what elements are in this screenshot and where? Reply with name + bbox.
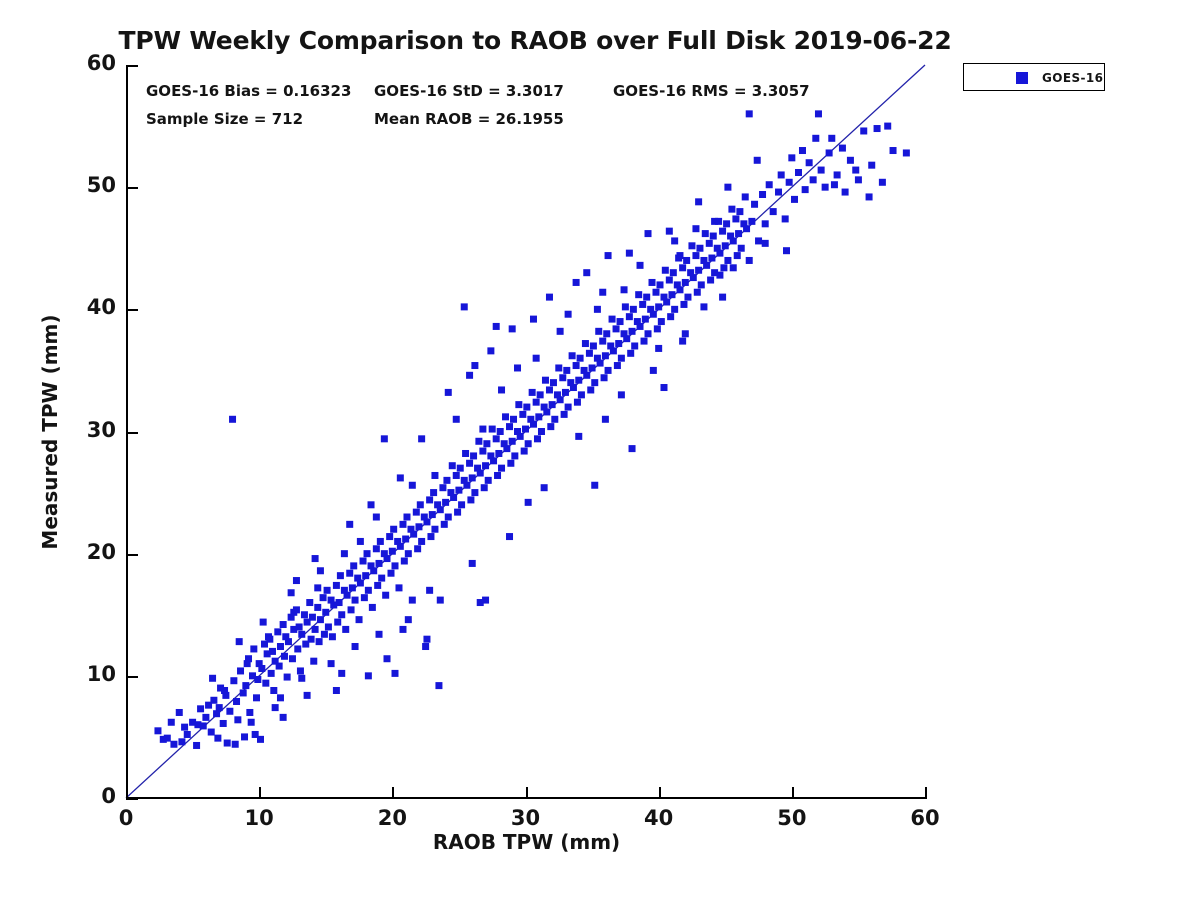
data-point: [417, 501, 424, 508]
data-point: [695, 267, 702, 274]
data-point: [706, 240, 713, 247]
data-point: [561, 411, 568, 418]
data-point: [719, 228, 726, 235]
data-point: [479, 426, 486, 433]
data-point: [281, 653, 288, 660]
data-point: [445, 389, 452, 396]
data-point: [352, 643, 359, 650]
data-point: [720, 264, 727, 271]
data-point: [306, 599, 313, 606]
data-point: [357, 538, 364, 545]
data-point: [653, 289, 660, 296]
data-point: [441, 521, 448, 528]
data-point: [265, 633, 272, 640]
data-point: [442, 499, 449, 506]
data-point: [626, 313, 633, 320]
data-point: [485, 477, 492, 484]
y-tick-label-10: 10: [58, 662, 116, 686]
data-point: [477, 599, 484, 606]
data-point: [274, 628, 281, 635]
data-point: [676, 252, 683, 259]
data-point: [181, 724, 188, 731]
data-point: [475, 438, 482, 445]
data-point: [525, 499, 532, 506]
data-point: [742, 193, 749, 200]
data-point: [852, 167, 859, 174]
x-tick-label-50: 50: [762, 806, 822, 830]
data-point: [879, 179, 886, 186]
data-point: [250, 645, 257, 652]
data-point: [262, 680, 269, 687]
data-point: [543, 408, 550, 415]
data-point: [622, 303, 629, 310]
data-point: [344, 592, 351, 599]
data-point: [766, 181, 773, 188]
data-point: [597, 360, 604, 367]
data-point: [248, 719, 255, 726]
data-point: [401, 557, 408, 564]
data-point: [461, 303, 468, 310]
data-point: [788, 154, 795, 161]
data-point: [537, 391, 544, 398]
data-point: [711, 218, 718, 225]
data-point: [378, 575, 385, 582]
data-point: [684, 294, 691, 301]
data-point: [655, 345, 662, 352]
data-point: [778, 171, 785, 178]
data-point: [487, 347, 494, 354]
data-point: [233, 698, 240, 705]
x-tick-10: [259, 787, 261, 797]
data-point: [368, 501, 375, 508]
data-point: [538, 428, 545, 435]
data-point: [413, 509, 420, 516]
data-point: [370, 567, 377, 574]
data-point: [481, 484, 488, 491]
data-point: [671, 306, 678, 313]
data-point: [403, 514, 410, 521]
data-point: [431, 526, 438, 533]
data-point: [234, 716, 241, 723]
data-point: [547, 423, 554, 430]
data-point: [525, 440, 532, 447]
stat-bias: GOES-16 Bias = 0.16323: [146, 82, 351, 100]
data-point: [232, 741, 239, 748]
data-point: [290, 609, 297, 616]
data-point: [312, 555, 319, 562]
data-point: [423, 518, 430, 525]
data-point: [802, 186, 809, 193]
data-point: [184, 731, 191, 738]
data-point: [482, 462, 489, 469]
y-tick-0: [128, 798, 138, 800]
data-point: [546, 294, 553, 301]
data-point: [389, 548, 396, 555]
data-point: [361, 594, 368, 601]
data-point: [710, 233, 717, 240]
data-point: [373, 514, 380, 521]
data-point: [550, 379, 557, 386]
data-point: [533, 355, 540, 362]
data-point: [603, 330, 610, 337]
data-point: [667, 313, 674, 320]
data-point: [364, 550, 371, 557]
data-point: [391, 562, 398, 569]
data-point: [828, 135, 835, 142]
data-point: [168, 719, 175, 726]
data-point: [453, 472, 460, 479]
data-point: [509, 325, 516, 332]
data-point: [655, 303, 662, 310]
data-point: [405, 550, 412, 557]
data-point: [342, 626, 349, 633]
legend-swatch-goes-16: [1016, 72, 1028, 84]
data-point: [409, 597, 416, 604]
data-point: [236, 638, 243, 645]
data-point: [328, 660, 335, 667]
data-point: [577, 355, 584, 362]
data-point: [590, 342, 597, 349]
data-point: [688, 242, 695, 249]
data-point: [176, 709, 183, 716]
data-point: [618, 391, 625, 398]
data-point: [352, 597, 359, 604]
data-point: [338, 611, 345, 618]
data-point: [743, 225, 750, 232]
stat-std: GOES-16 StD = 3.3017: [374, 82, 564, 100]
data-point: [346, 570, 353, 577]
y-tick-label-20: 20: [58, 540, 116, 564]
data-point: [395, 584, 402, 591]
data-point: [454, 509, 461, 516]
data-point: [839, 145, 846, 152]
data-point: [555, 364, 562, 371]
data-point: [329, 633, 336, 640]
data-point: [642, 316, 649, 323]
data-point: [418, 435, 425, 442]
data-point: [529, 389, 536, 396]
data-point: [799, 147, 806, 154]
data-point: [431, 472, 438, 479]
data-point: [755, 237, 762, 244]
data-point: [430, 489, 437, 496]
data-point: [382, 592, 389, 599]
chart-legend: GOES-16: [963, 63, 1105, 91]
data-point: [682, 279, 689, 286]
data-point: [617, 318, 624, 325]
y-tick-50: [128, 187, 138, 189]
data-point: [645, 230, 652, 237]
data-point: [216, 704, 223, 711]
data-point: [285, 638, 292, 645]
data-point: [679, 264, 686, 271]
x-tick-label-30: 30: [496, 806, 556, 830]
data-point: [666, 228, 673, 235]
data-point: [288, 589, 295, 596]
data-point: [594, 306, 601, 313]
data-point: [533, 399, 540, 406]
data-point: [627, 350, 634, 357]
data-point: [860, 127, 867, 134]
series-goes-16: [154, 110, 909, 749]
data-point: [514, 364, 521, 371]
data-point: [334, 619, 341, 626]
data-point: [680, 301, 687, 308]
data-point: [535, 413, 542, 420]
y-tick-label-30: 30: [58, 418, 116, 442]
data-point: [810, 176, 817, 183]
data-point: [722, 242, 729, 249]
data-point: [280, 714, 287, 721]
data-point: [242, 682, 249, 689]
data-point: [812, 135, 819, 142]
data-point: [583, 372, 590, 379]
data-point: [575, 433, 582, 440]
data-point: [397, 474, 404, 481]
data-point: [795, 169, 802, 176]
data-point: [229, 416, 236, 423]
data-point: [276, 663, 283, 670]
data-point: [317, 567, 324, 574]
x-tick-0: [126, 787, 128, 797]
data-point: [498, 465, 505, 472]
data-point: [884, 123, 891, 130]
data-point: [511, 452, 518, 459]
data-point: [298, 631, 305, 638]
data-point: [402, 536, 409, 543]
data-point: [268, 670, 275, 677]
data-point: [562, 389, 569, 396]
data-point: [583, 269, 590, 276]
data-point: [575, 377, 582, 384]
data-point: [874, 125, 881, 132]
data-point: [631, 342, 638, 349]
x-tick-30: [526, 787, 528, 797]
data-point: [495, 450, 502, 457]
data-point: [696, 245, 703, 252]
data-point: [563, 367, 570, 374]
data-point: [762, 240, 769, 247]
data-point: [410, 531, 417, 538]
data-point: [565, 404, 572, 411]
data-point: [336, 599, 343, 606]
data-point: [716, 250, 723, 257]
data-point: [209, 675, 216, 682]
data-point: [573, 362, 580, 369]
data-point: [429, 511, 436, 518]
data-point: [202, 714, 209, 721]
data-point: [806, 159, 813, 166]
data-point: [384, 555, 391, 562]
data-point: [308, 636, 315, 643]
data-point: [426, 587, 433, 594]
data-point: [692, 252, 699, 259]
data-point: [557, 328, 564, 335]
data-point: [719, 294, 726, 301]
data-point: [507, 460, 514, 467]
data-point: [694, 289, 701, 296]
data-point: [314, 604, 321, 611]
data-point: [469, 560, 476, 567]
data-point: [272, 704, 279, 711]
y-tick-label-60: 60: [58, 51, 116, 75]
data-point: [289, 655, 296, 662]
data-point: [455, 487, 462, 494]
data-point: [477, 470, 484, 477]
data-point: [517, 433, 524, 440]
x-tick-20: [392, 787, 394, 797]
data-point: [834, 171, 841, 178]
data-point: [260, 619, 267, 626]
data-point: [317, 616, 324, 623]
data-point: [549, 401, 556, 408]
stat-rms: GOES-16 RMS = 3.3057: [613, 82, 810, 100]
data-point: [418, 538, 425, 545]
data-point: [623, 335, 630, 342]
data-point: [842, 189, 849, 196]
data-point: [258, 665, 265, 672]
data-point: [463, 482, 470, 489]
data-point: [630, 306, 637, 313]
data-point: [284, 674, 291, 681]
data-point: [226, 708, 233, 715]
data-point: [240, 689, 247, 696]
data-point: [193, 742, 200, 749]
data-point: [815, 110, 822, 117]
data-point: [735, 230, 742, 237]
data-point: [309, 614, 316, 621]
data-point: [551, 416, 558, 423]
data-point: [294, 645, 301, 652]
data-point: [635, 291, 642, 298]
data-point: [391, 670, 398, 677]
data-point: [252, 731, 259, 738]
data-point: [730, 237, 737, 244]
data-point: [374, 582, 381, 589]
data-point: [210, 697, 217, 704]
data-point: [595, 328, 602, 335]
x-axis-label: RAOB TPW (mm): [126, 830, 927, 854]
data-point: [321, 631, 328, 638]
data-point: [269, 648, 276, 655]
data-point: [650, 311, 657, 318]
data-point: [493, 435, 500, 442]
data-point: [613, 325, 620, 332]
data-point: [471, 489, 478, 496]
data-point: [426, 496, 433, 503]
data-point: [435, 682, 442, 689]
data-point: [362, 572, 369, 579]
data-point: [381, 435, 388, 442]
data-point: [530, 421, 537, 428]
data-point: [569, 352, 576, 359]
data-point: [301, 611, 308, 618]
data-point: [277, 643, 284, 650]
data-point: [557, 396, 564, 403]
data-point: [831, 181, 838, 188]
x-tick-label-60: 60: [895, 806, 955, 830]
data-point: [546, 386, 553, 393]
data-point: [754, 157, 761, 164]
data-point: [578, 391, 585, 398]
data-point: [855, 176, 862, 183]
data-point: [587, 386, 594, 393]
data-point: [818, 167, 825, 174]
data-point: [314, 584, 321, 591]
data-point: [373, 545, 380, 552]
data-point: [542, 377, 549, 384]
data-point: [338, 670, 345, 677]
x-axis-line: [126, 797, 927, 799]
data-point: [692, 225, 699, 232]
data-point: [154, 727, 161, 734]
data-point: [614, 362, 621, 369]
data-point: [270, 687, 277, 694]
data-point: [637, 323, 644, 330]
data-point: [641, 338, 648, 345]
data-point: [462, 450, 469, 457]
data-point: [724, 257, 731, 264]
data-point: [237, 667, 244, 674]
data-point: [422, 643, 429, 650]
scatter-points-layer: [126, 65, 925, 798]
data-point: [405, 616, 412, 623]
data-point: [415, 523, 422, 530]
data-point: [728, 206, 735, 213]
data-point: [390, 526, 397, 533]
y-tick-label-40: 40: [58, 295, 116, 319]
data-point: [707, 277, 714, 284]
data-point: [723, 220, 730, 227]
data-point: [786, 179, 793, 186]
data-point: [457, 465, 464, 472]
data-point: [316, 638, 323, 645]
data-point: [509, 438, 516, 445]
data-point: [589, 364, 596, 371]
data-point: [304, 692, 311, 699]
data-point: [702, 230, 709, 237]
data-point: [666, 277, 673, 284]
data-point: [409, 482, 416, 489]
data-point: [582, 340, 589, 347]
data-point: [662, 267, 669, 274]
data-point: [759, 191, 766, 198]
data-point: [716, 272, 723, 279]
y-tick-60: [128, 65, 138, 67]
data-point: [445, 514, 452, 521]
data-point: [791, 196, 798, 203]
y-tick-label-0: 0: [58, 784, 116, 808]
data-point: [530, 316, 537, 323]
data-point: [903, 149, 910, 156]
data-point: [506, 533, 513, 540]
data-point: [732, 215, 739, 222]
data-point: [466, 372, 473, 379]
data-point: [241, 733, 248, 740]
data-point: [322, 609, 329, 616]
data-point: [178, 738, 185, 745]
data-point: [847, 157, 854, 164]
x-tick-50: [792, 787, 794, 797]
data-point: [510, 416, 517, 423]
data-point: [626, 250, 633, 257]
data-point: [333, 582, 340, 589]
data-point: [637, 262, 644, 269]
data-point: [724, 184, 731, 191]
data-point: [574, 399, 581, 406]
data-point: [365, 672, 372, 679]
data-point: [348, 606, 355, 613]
